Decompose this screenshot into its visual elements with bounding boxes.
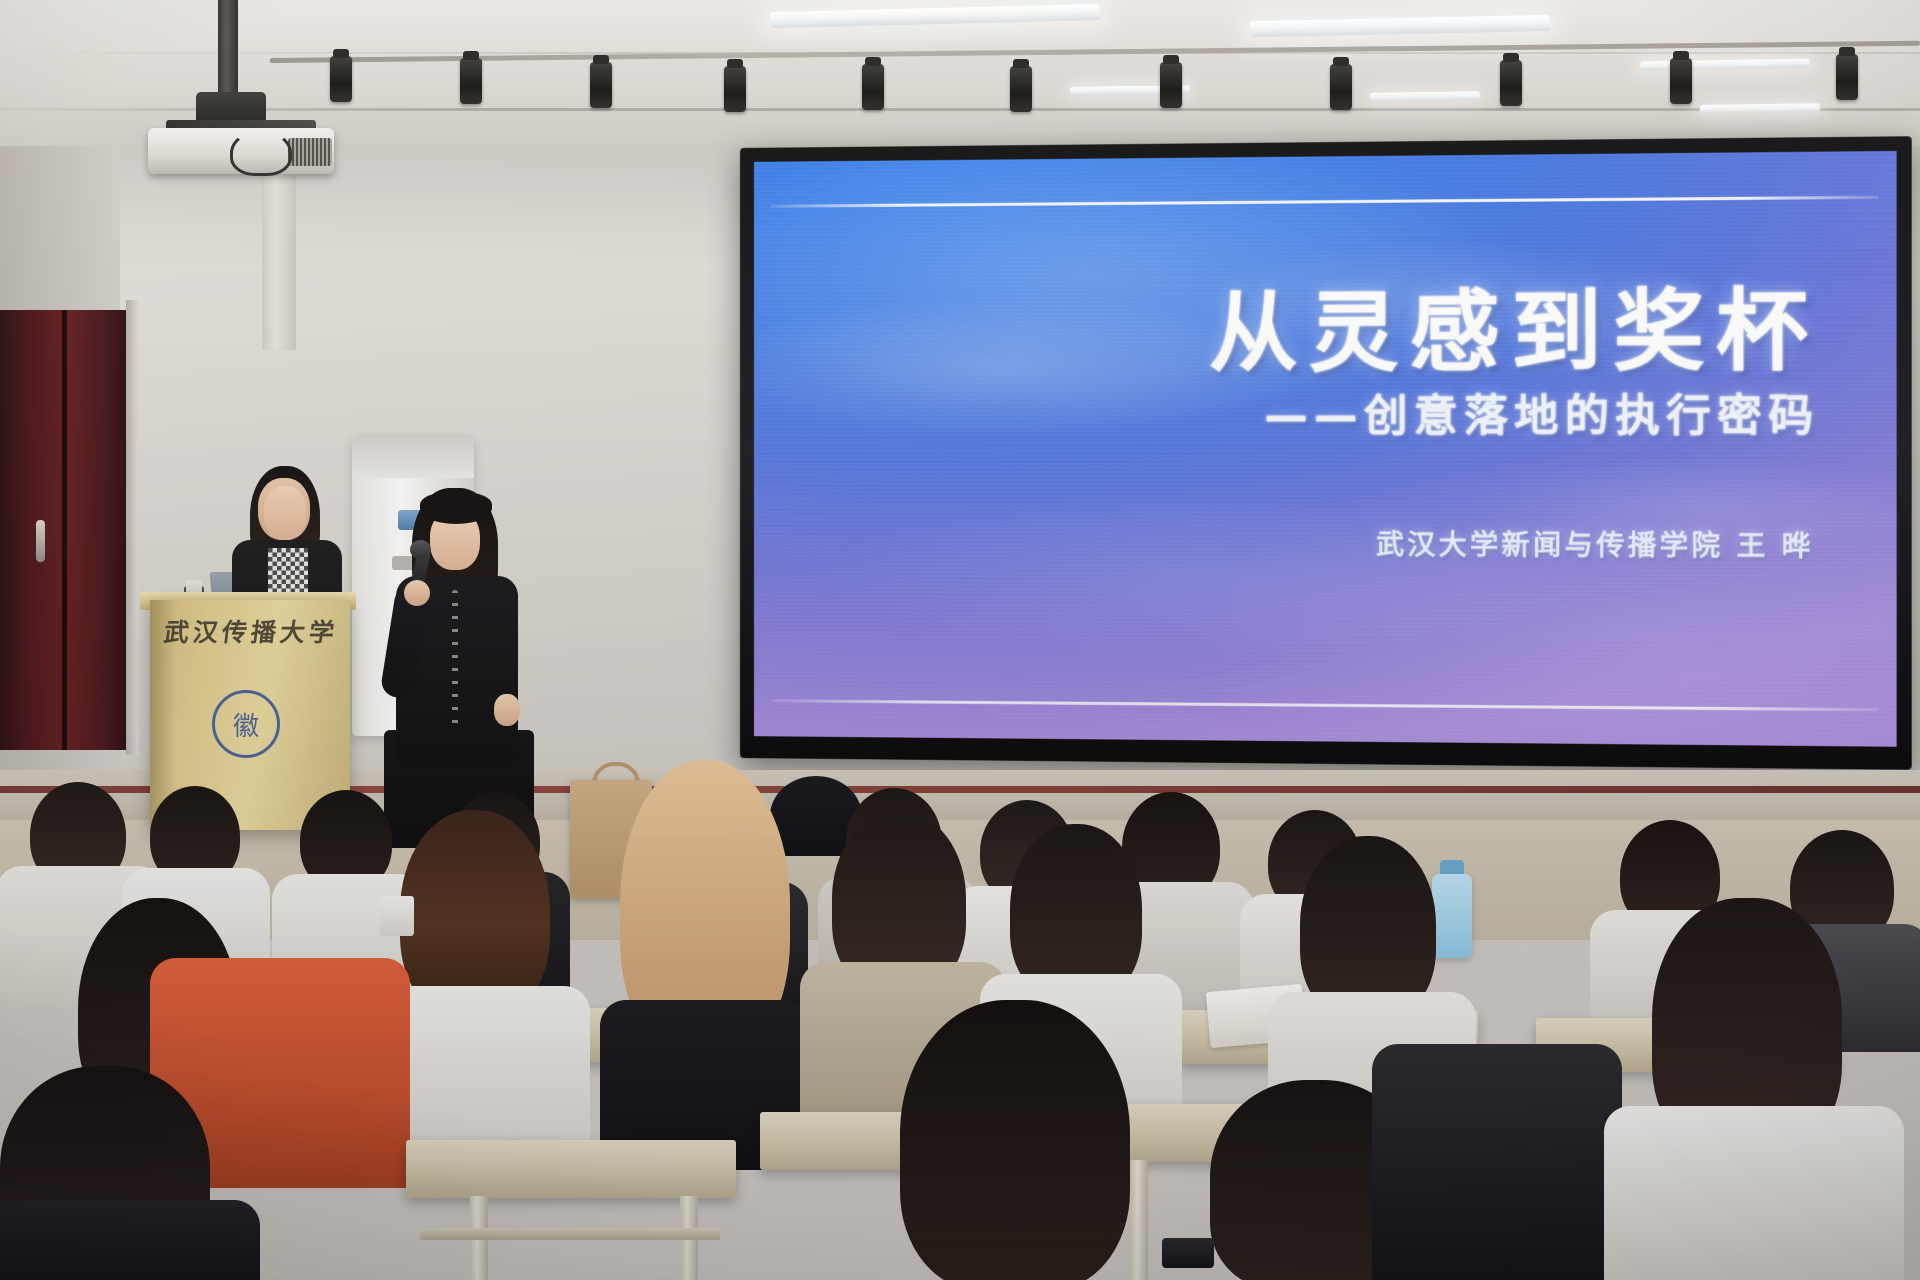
wall-conduit — [262, 150, 296, 350]
lecture-hall-scene: 从灵感到奖杯 ——创意落地的执行密码 武汉大学新闻与传播学院 王 晔 武汉传播大… — [0, 0, 1920, 1280]
student-desk — [406, 1140, 736, 1198]
track-spotlight — [460, 58, 482, 104]
speaker-jacket-buttons — [452, 590, 458, 730]
track-spotlight — [330, 56, 352, 102]
led-display-bezel: 从灵感到奖杯 ——创意落地的执行密码 武汉大学新闻与传播学院 王 晔 — [740, 136, 1912, 770]
audience-head — [900, 1000, 1130, 1280]
door-split — [62, 310, 67, 750]
desk-rail — [420, 1228, 720, 1240]
water-dispenser-top — [352, 436, 474, 478]
blue-water-bottle — [1432, 874, 1472, 958]
panel-light — [1370, 91, 1480, 102]
track-spotlight — [1836, 54, 1858, 100]
projector-vent — [288, 138, 332, 166]
track-spotlight — [1670, 58, 1692, 104]
podium-label: 武汉传播大学 — [154, 616, 348, 650]
track-spotlight — [862, 64, 884, 110]
door-handle[interactable] — [36, 520, 45, 562]
track-spotlight — [1330, 64, 1352, 110]
audience-body — [1604, 1106, 1904, 1280]
smartphone[interactable] — [1162, 1238, 1214, 1268]
led-scanline-overlay — [754, 151, 1897, 747]
speaker-bangs — [420, 492, 492, 524]
speaker-hand — [404, 580, 430, 606]
track-spotlight — [1160, 62, 1182, 108]
projector-cable — [230, 130, 292, 176]
track-spotlight — [1010, 66, 1032, 112]
track-spotlight — [724, 66, 746, 112]
presentation-slide[interactable]: 从灵感到奖杯 ——创意落地的执行密码 武汉大学新闻与传播学院 王 晔 — [754, 151, 1897, 747]
host-face — [264, 486, 306, 540]
paper-cup — [380, 896, 414, 936]
audience-body — [0, 1200, 260, 1280]
ceiling-seam — [0, 108, 1920, 111]
panel-light — [1700, 103, 1820, 114]
speaker-hand-lower — [494, 694, 520, 726]
track-spotlight — [1500, 60, 1522, 106]
microphone-head-icon — [410, 540, 431, 559]
door-frame — [126, 300, 138, 755]
university-emblem-icon: 徽 — [212, 690, 280, 758]
desk-leg — [1130, 1160, 1148, 1280]
track-spotlight — [590, 62, 612, 108]
audience-body — [1372, 1044, 1622, 1280]
